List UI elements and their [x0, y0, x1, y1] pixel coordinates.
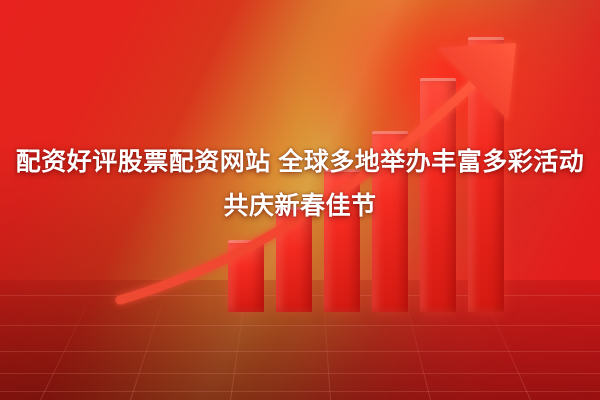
headline-line-2: 共庆新春佳节 — [0, 184, 600, 228]
bar-1 — [228, 240, 264, 312]
headline-line-1: 配资好评股票配资网站 全球多地举办丰富多彩活动 — [16, 148, 584, 176]
image-canvas: 配资好评股票配资网站 全球多地举办丰富多彩活动 共庆新春佳节 — [0, 0, 600, 400]
page-title: 配资好评股票配资网站 全球多地举办丰富多彩活动 共庆新春佳节 — [0, 140, 600, 228]
